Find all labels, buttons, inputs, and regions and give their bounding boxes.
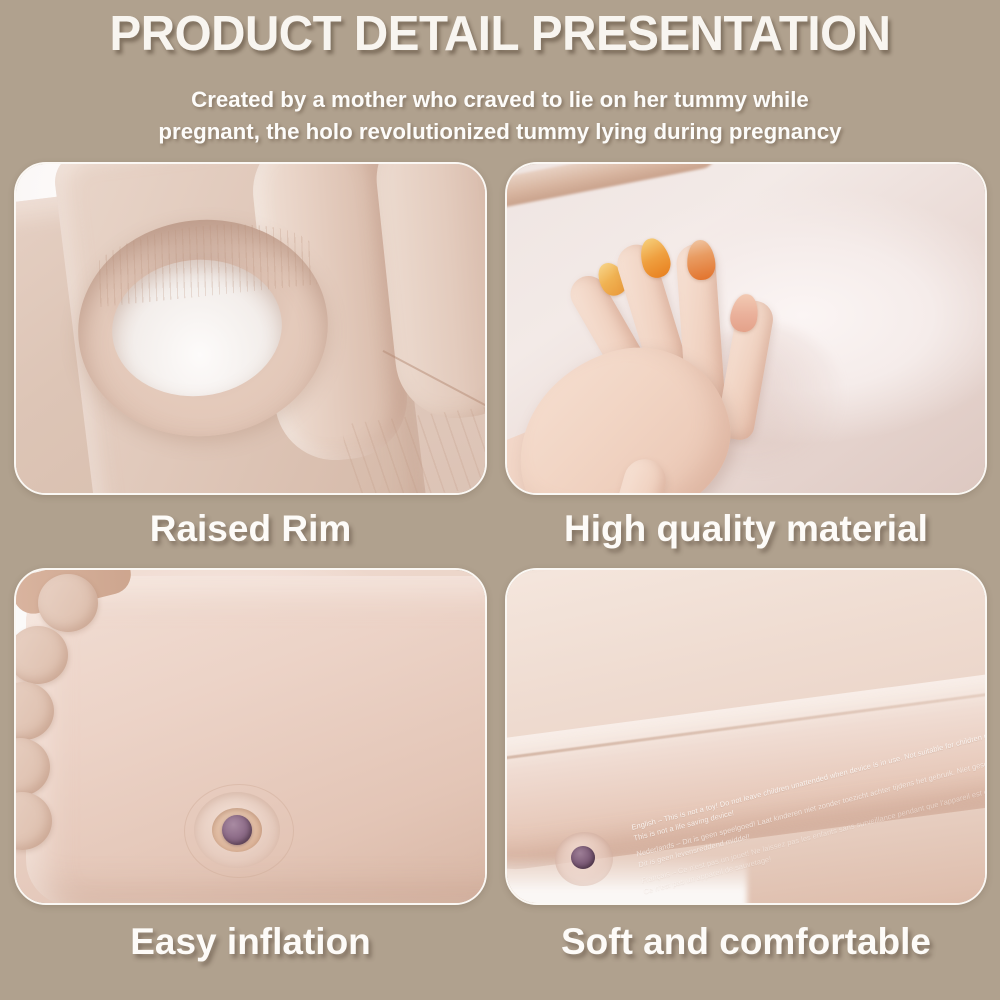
photo-inflation-scene (16, 570, 485, 903)
product-photo-high-quality-material (505, 162, 987, 495)
subtitle-line-1: Created by a mother who craved to lie on… (5, 84, 995, 116)
caption-soft-and-comfortable: Soft and comfortable (505, 918, 987, 966)
product-photo-easy-inflation (14, 568, 487, 905)
subtitle-line-2: pregnant, the holo revolutionized tummy … (5, 116, 995, 148)
photo-comfort-scene: English – This is not a toy! Do not leav… (507, 570, 985, 903)
product-photo-soft-and-comfortable: English – This is not a toy! Do not leav… (505, 568, 987, 905)
caption-raised-rim: Raised Rim (14, 505, 487, 553)
inflation-valve-plug (571, 846, 595, 869)
photo-raised-rim-scene (16, 164, 485, 493)
header-banner: PRODUCT DETAIL PRESENTATION Created by a… (0, 0, 1000, 152)
product-photo-raised-rim (14, 162, 487, 495)
page-subtitle: Created by a mother who craved to lie on… (5, 84, 995, 148)
inflation-valve-plug (222, 815, 252, 845)
page-title: PRODUCT DETAIL PRESENTATION (15, 6, 985, 62)
photo-material-scene (507, 164, 985, 493)
scalloped-edge-lobe (38, 574, 98, 632)
caption-easy-inflation: Easy inflation (14, 918, 487, 966)
hand-pressing-surface (515, 260, 845, 495)
caption-high-quality-material: High quality material (505, 505, 987, 553)
